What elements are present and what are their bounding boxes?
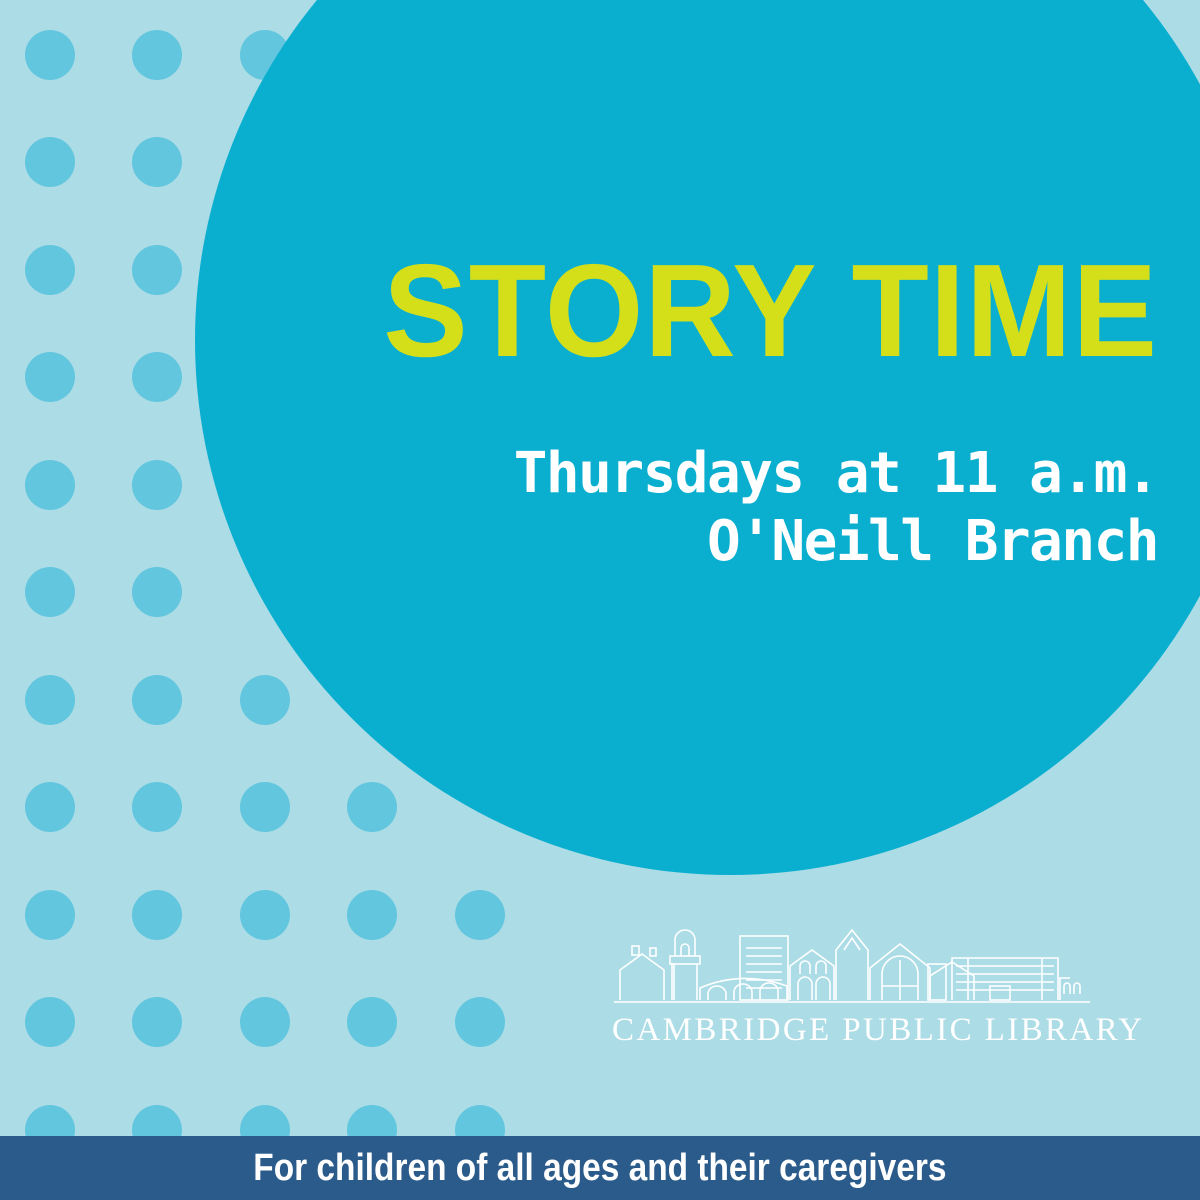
pattern-dot — [132, 890, 182, 940]
subtitle-line-location: O'Neill Branch — [0, 508, 1158, 576]
pattern-dot — [132, 782, 182, 832]
pattern-dot — [347, 782, 397, 832]
pattern-dot — [25, 137, 75, 187]
page-title: STORY TIME — [46, 248, 1158, 373]
pattern-dot — [132, 137, 182, 187]
pattern-dot — [132, 30, 182, 80]
bottom-banner: For children of all ages and their careg… — [0, 1136, 1200, 1200]
pattern-dot — [25, 30, 75, 80]
logo-wordmark: CAMBRIDGE PUBLIC LIBRARY — [612, 1012, 1092, 1048]
pattern-dot — [347, 997, 397, 1047]
pattern-dot — [240, 675, 290, 725]
pattern-dot — [25, 890, 75, 940]
pattern-dot — [240, 890, 290, 940]
banner-text: For children of all ages and their careg… — [253, 1147, 946, 1190]
pattern-dot — [25, 782, 75, 832]
pattern-dot — [25, 675, 75, 725]
pattern-dot — [132, 675, 182, 725]
pattern-dot — [25, 997, 75, 1047]
poster-canvas: STORY TIME Thursdays at 11 a.m. O'Neill … — [0, 0, 1200, 1200]
pattern-dot — [240, 782, 290, 832]
pattern-dot — [240, 997, 290, 1047]
library-logo: CAMBRIDGE PUBLIC LIBRARY — [612, 928, 1092, 1048]
pattern-dot — [347, 890, 397, 940]
pattern-dot — [455, 997, 505, 1047]
pattern-dot — [455, 890, 505, 940]
city-skyline-icon — [612, 928, 1092, 1006]
pattern-dot — [132, 997, 182, 1047]
headline-block: STORY TIME — [0, 248, 1158, 373]
subtitle-block: Thursdays at 11 a.m. O'Neill Branch — [0, 440, 1158, 577]
subtitle-line-schedule: Thursdays at 11 a.m. — [0, 440, 1158, 508]
